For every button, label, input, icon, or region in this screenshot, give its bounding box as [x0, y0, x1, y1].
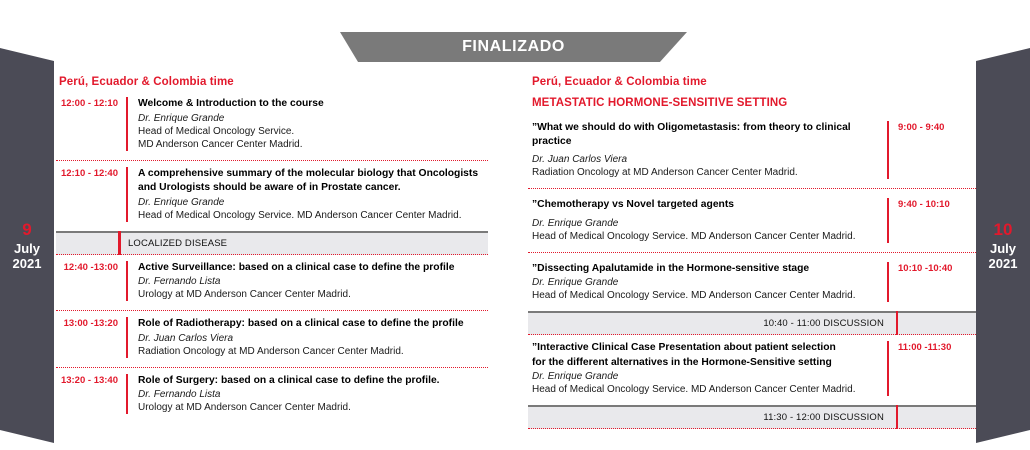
agenda-row-affiliation: Head of Medical Oncology Service. MD And… [138, 209, 488, 222]
agenda-row-affiliation: Head of Medical Oncology Service. [138, 125, 488, 138]
agenda-row-body: ”Dissecting Apalutamide in the Hormone-s… [528, 262, 889, 303]
agenda-rows-day1: 12:00 - 12:10 Welcome & Introduction to … [56, 97, 488, 423]
red-divider-tick [896, 311, 899, 335]
agenda-row: ”Chemotherapy vs Novel targeted agents D… [528, 188, 976, 252]
agenda-row-title: and Urologists should be aware of in Pro… [138, 181, 488, 195]
agenda-rows-day2: ”What we should do with Oligometastasis:… [528, 121, 976, 429]
agenda-row-title: ”What we should do with Oligometastasis:… [532, 121, 878, 148]
agenda-discussion-band-label: 10:40 - 11:00 DISCUSSION [763, 318, 884, 329]
agenda-row-speaker: Dr. Fernando Lista [138, 388, 488, 401]
agenda-row-affiliation: Head of Medical Oncology Service. MD And… [532, 230, 878, 243]
agenda-section-band-localized-disease: LOCALIZED DISEASE [56, 231, 488, 255]
agenda-row-time: 9:40 - 10:10 [889, 198, 976, 210]
agenda-row-speaker: Dr. Enrique Grande [532, 276, 878, 289]
agenda-section-band-label: LOCALIZED DISEASE [128, 238, 227, 249]
agenda-row-affiliation: Radiation Oncology at MD Anderson Cancer… [138, 345, 488, 358]
agenda-row: ”What we should do with Oligometastasis:… [528, 121, 976, 188]
status-banner: FINALIZADO [340, 32, 687, 62]
agenda-row-speaker: Dr. Juan Carlos Viera [532, 153, 878, 166]
agenda-discussion-band-label: 11:30 - 12:00 DISCUSSION [763, 412, 884, 423]
agenda-row-body: A comprehensive summary of the molecular… [126, 167, 488, 222]
red-divider-tick [896, 405, 899, 429]
agenda-row-body: Role of Radiotherapy: based on a clinica… [126, 317, 488, 358]
date-tab-day2-year: 2021 [989, 256, 1018, 271]
agenda-row-body: Role of Surgery: based on a clinical cas… [126, 374, 488, 415]
agenda-row: ”Interactive Clinical Case Presentation … [528, 335, 976, 405]
agenda-row-affiliation: Radiation Oncology at MD Anderson Cancer… [532, 166, 878, 179]
agenda-row-affiliation: Head of Medical Oncology Service. MD And… [532, 289, 878, 302]
agenda-row-title: Role of Radiotherapy: based on a clinica… [138, 317, 488, 331]
agenda-row-speaker: Dr. Enrique Grande [138, 196, 488, 209]
agenda-row-title: A comprehensive summary of the molecular… [138, 167, 488, 181]
agenda-section-title-metastatic: METASTATIC HORMONE-SENSITIVE SETTING [532, 97, 976, 109]
date-tab-day2: 10 July 2021 [976, 48, 1030, 443]
agenda-row-time: 9:00 - 9:40 [889, 121, 976, 133]
agenda-row-title: for the different alternatives in the Ho… [532, 356, 878, 370]
agenda-row: 12:40 -13:00 Active Surveillance: based … [56, 255, 488, 311]
agenda-row-title: ”Dissecting Apalutamide in the Hormone-s… [532, 262, 878, 276]
agenda-row: ”Dissecting Apalutamide in the Hormone-s… [528, 252, 976, 312]
agenda-row-speaker: Dr. Enrique Grande [138, 112, 488, 125]
agenda-row-time: 12:10 - 12:40 [56, 167, 126, 179]
date-tab-day1: 9 July 2021 [0, 48, 54, 443]
agenda-row: 12:10 - 12:40 A comprehensive summary of… [56, 160, 488, 231]
agenda-row: 13:20 - 13:40 Role of Surgery: based on … [56, 367, 488, 424]
agenda-row-time: 12:00 - 12:10 [56, 97, 126, 109]
agenda-discussion-band: 10:40 - 11:00 DISCUSSION [528, 311, 976, 335]
agenda-row-time: 13:20 - 13:40 [56, 374, 126, 386]
agenda-discussion-band: 11:30 - 12:00 DISCUSSION [528, 405, 976, 429]
agenda-row-speaker: Dr. Enrique Grande [532, 217, 878, 230]
red-divider-tick [118, 231, 121, 255]
agenda-row-time: 11:00 -11:30 [889, 341, 976, 353]
agenda-row-title: Role of Surgery: based on a clinical cas… [138, 374, 488, 388]
agenda-row-speaker: Dr. Enrique Grande [532, 370, 878, 383]
agenda-row-title: ”Interactive Clinical Case Presentation … [532, 341, 878, 355]
agenda-row-body: Welcome & Introduction to the course Dr.… [126, 97, 488, 151]
agenda-row-speaker: Dr. Fernando Lista [138, 275, 488, 288]
status-banner-label: FINALIZADO [462, 39, 565, 55]
agenda-row-time: 10:10 -10:40 [889, 262, 976, 274]
agenda-row: 13:00 -13:20 Role of Radiotherapy: based… [56, 310, 488, 367]
date-tab-day2-month: July [990, 241, 1016, 256]
agenda-row-affiliation: Urology at MD Anderson Cancer Center Mad… [138, 288, 488, 301]
date-tab-day1-month: July [14, 241, 40, 256]
agenda-row: 12:00 - 12:10 Welcome & Introduction to … [56, 97, 488, 160]
agenda-row-body: ”Interactive Clinical Case Presentation … [528, 341, 889, 396]
agenda-row-affiliation: MD Anderson Cancer Center Madrid. [138, 138, 488, 151]
agenda-row-body: Active Surveillance: based on a clinical… [126, 261, 488, 302]
date-tab-day1-year: 2021 [13, 256, 42, 271]
agenda-row-time: 13:00 -13:20 [56, 317, 126, 329]
agenda-row-title: Active Surveillance: based on a clinical… [138, 261, 488, 275]
agenda-row-affiliation: Head of Medical Oncology Service. MD And… [532, 383, 878, 396]
agenda-column-day2: Perú, Ecuador & Colombia time METASTATIC… [528, 76, 976, 429]
timezone-heading-day2: Perú, Ecuador & Colombia time [528, 76, 976, 88]
agenda-row-speaker: Dr. Juan Carlos Viera [138, 332, 488, 345]
agenda-row-affiliation: Urology at MD Anderson Cancer Center Mad… [138, 401, 488, 414]
agenda-row-body: ”What we should do with Oligometastasis:… [528, 121, 889, 179]
agenda-column-day1: Perú, Ecuador & Colombia time 12:00 - 12… [56, 76, 488, 423]
agenda-row-title: ”Chemotherapy vs Novel targeted agents [532, 198, 878, 212]
timezone-heading-day1: Perú, Ecuador & Colombia time [56, 76, 488, 88]
agenda-row-time: 12:40 -13:00 [56, 261, 126, 273]
date-tab-day1-day: 9 [22, 220, 31, 240]
date-tab-day2-day: 10 [994, 220, 1013, 240]
agenda-row-body: ”Chemotherapy vs Novel targeted agents D… [528, 198, 889, 243]
agenda-row-title: Welcome & Introduction to the course [138, 97, 488, 111]
